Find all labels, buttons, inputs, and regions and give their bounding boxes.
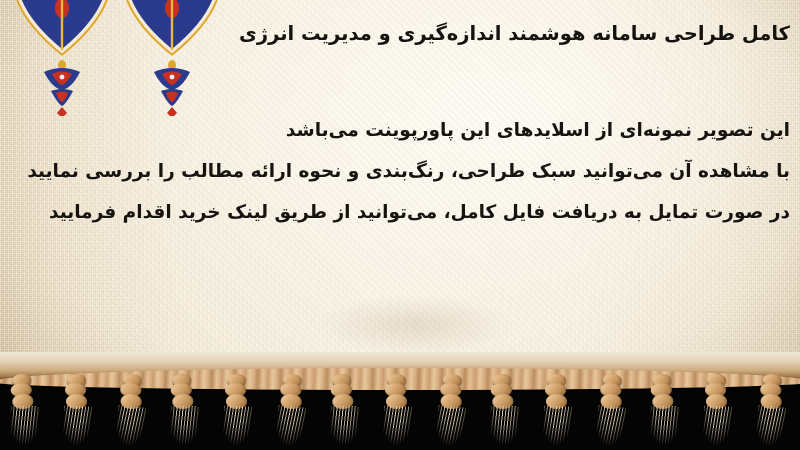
persian-tazhib-shield-right-icon xyxy=(118,0,226,120)
slide-canvas: کامل طراحی سامانه هوشمند اندازه‌گیری و م… xyxy=(0,0,800,450)
tassel-strands xyxy=(594,405,626,450)
page-title: کامل طراحی سامانه هوشمند اندازه‌گیری و م… xyxy=(190,22,790,46)
fringe-tassel xyxy=(111,373,149,450)
tassel-strands xyxy=(274,405,306,450)
fringe-tassel xyxy=(4,373,42,450)
tassel-strands xyxy=(434,405,466,450)
fringe-tassel xyxy=(539,374,573,450)
tassel-strands xyxy=(171,406,199,450)
fringe-tassel xyxy=(271,373,309,450)
fringe-tassel xyxy=(379,374,413,450)
body-line-1: این تصویر نمونه‌ای از اسلایدهای این پاور… xyxy=(8,110,790,151)
fringe-tassel xyxy=(431,373,469,450)
tassel-strands xyxy=(702,405,732,450)
tassel-strands xyxy=(114,405,146,450)
persian-tazhib-shield-left-icon xyxy=(8,0,116,120)
body-line-2: با مشاهده آن می‌توانید سبک طراحی، رنگ‌بن… xyxy=(8,151,790,192)
fringe-tassel xyxy=(219,374,253,450)
tassel-strands xyxy=(62,405,92,450)
tassel-strands xyxy=(222,405,252,450)
fringe-tassel xyxy=(751,373,789,450)
slide-title-container: کامل طراحی سامانه هوشمند اندازه‌گیری و م… xyxy=(190,22,790,46)
fringe-tassel xyxy=(591,373,629,450)
tassel-strands xyxy=(11,406,39,450)
fringe-tassel xyxy=(699,374,733,450)
tassel-strands xyxy=(651,406,679,450)
fringe-tassel xyxy=(164,373,202,450)
tassel-strands xyxy=(491,406,519,450)
fringe-tassel xyxy=(59,374,93,450)
tassel-strands xyxy=(542,405,572,450)
body-line-3: در صورت تمایل به دریافت فایل کامل، می‌تو… xyxy=(8,192,790,233)
tassel-strands xyxy=(754,405,786,450)
slide-body-container: این تصویر نمونه‌ای از اسلایدهای این پاور… xyxy=(8,110,790,233)
fringe-tassel xyxy=(324,373,362,450)
tassel-strands xyxy=(382,405,412,450)
fringe-tassel xyxy=(644,373,682,450)
tassel-strands xyxy=(331,406,359,450)
carpet-fringe xyxy=(0,352,800,450)
fringe-tassel xyxy=(484,373,522,450)
